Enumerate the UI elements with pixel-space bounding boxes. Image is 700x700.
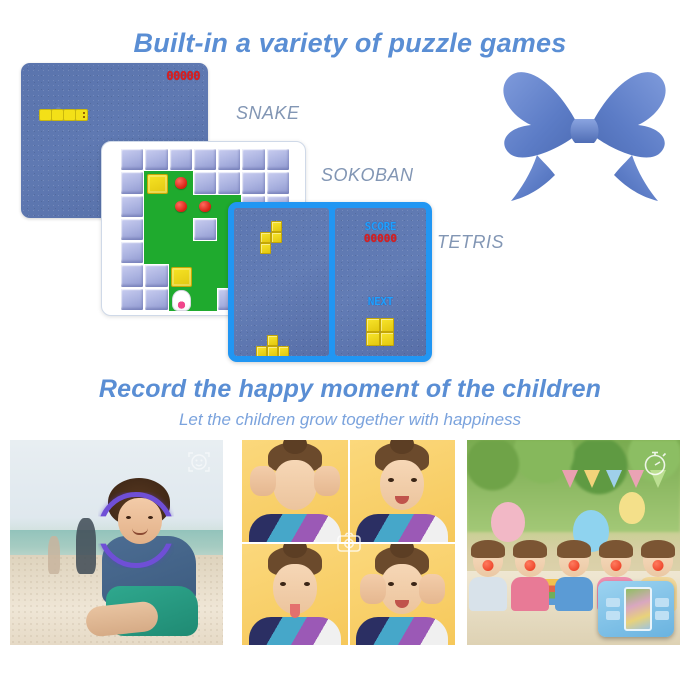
sokoban-wall bbox=[241, 171, 265, 194]
page-title-record: Record the happy moment of the children bbox=[0, 375, 700, 404]
sokoban-floor bbox=[144, 218, 168, 241]
sokoban-wall bbox=[266, 171, 290, 194]
sokoban-wall bbox=[120, 264, 144, 287]
sokoban-target bbox=[169, 171, 193, 194]
tetris-piece-s bbox=[260, 221, 282, 254]
sokoban-floor bbox=[169, 218, 193, 241]
party-child bbox=[515, 545, 549, 611]
girl-hand bbox=[314, 466, 340, 496]
stopwatch-icon bbox=[640, 448, 670, 478]
snake-sprite bbox=[39, 109, 87, 121]
tetris-score-value: 00000 bbox=[335, 232, 426, 245]
sokoban-crate bbox=[169, 264, 193, 287]
tetris-playfield bbox=[234, 208, 329, 356]
girl-face bbox=[273, 460, 317, 510]
camera-buttons bbox=[655, 598, 669, 620]
sokoban-floor bbox=[144, 195, 168, 218]
photo-face-recognition: Face Recognition bbox=[10, 440, 223, 645]
sokoban-wall bbox=[169, 148, 193, 171]
product-feature-page: Built-in a variety of puzzle games 00000 bbox=[0, 0, 700, 700]
sokoban-player bbox=[169, 288, 193, 311]
photo-burst: Burst Photo bbox=[242, 440, 455, 645]
tetris-next-label: NEXT bbox=[335, 295, 426, 308]
balloon bbox=[491, 502, 525, 542]
sokoban-wall bbox=[120, 195, 144, 218]
girl-hand bbox=[419, 574, 445, 604]
girl-eye bbox=[280, 582, 286, 586]
sokoban-wall bbox=[193, 171, 217, 194]
kids-camera-device bbox=[598, 581, 674, 637]
party-child bbox=[559, 545, 593, 611]
sokoban-wall bbox=[193, 148, 217, 171]
girl-hand bbox=[250, 466, 276, 496]
sokoban-floor bbox=[144, 241, 168, 264]
sokoban-wall bbox=[144, 288, 168, 311]
sokoban-wall bbox=[217, 148, 241, 171]
sokoban-wall bbox=[266, 148, 290, 171]
sokoban-target bbox=[193, 195, 217, 218]
sokoban-target bbox=[169, 195, 193, 218]
girl-eye bbox=[411, 582, 417, 586]
sokoban-wall bbox=[120, 241, 144, 264]
game-label-tetris: TETRIS bbox=[437, 232, 504, 253]
tetris-info-panel: SCORE 00000 NEXT bbox=[335, 208, 426, 356]
tetris-game-screen: SCORE 00000 NEXT bbox=[228, 202, 432, 362]
sokoban-wall bbox=[217, 171, 241, 194]
burst-frame bbox=[350, 440, 456, 542]
sokoban-wall bbox=[120, 288, 144, 311]
girl-body bbox=[249, 617, 341, 645]
ribbon-bow-icon bbox=[487, 55, 682, 205]
tetris-piece-t bbox=[256, 335, 289, 356]
camera-screen bbox=[624, 587, 652, 631]
sokoban-wall bbox=[144, 148, 168, 171]
sokoban-floor bbox=[193, 264, 217, 287]
tetris-next-piece-o bbox=[366, 318, 394, 346]
face-detect-icon bbox=[185, 448, 213, 476]
sokoban-wall bbox=[193, 218, 217, 241]
girl-tongue bbox=[290, 604, 300, 618]
sokoban-wall bbox=[120, 171, 144, 194]
page-subtitle: Let the children grow together with happ… bbox=[0, 410, 700, 430]
game-label-sokoban: SOKOBAN bbox=[321, 165, 414, 186]
sokoban-wall bbox=[144, 264, 168, 287]
camera-buttons bbox=[606, 598, 620, 620]
girl-eye bbox=[304, 582, 310, 586]
girl-body bbox=[356, 514, 448, 542]
girl-eye bbox=[388, 582, 394, 586]
sokoban-floor bbox=[169, 241, 193, 264]
girl-hand bbox=[360, 574, 386, 604]
sokoban-crate bbox=[144, 171, 168, 194]
party-child bbox=[473, 545, 507, 611]
burst-frame bbox=[350, 544, 456, 646]
sokoban-wall bbox=[241, 148, 265, 171]
sokoban-floor bbox=[193, 288, 217, 311]
background-person bbox=[48, 536, 60, 574]
girl-eye bbox=[411, 478, 417, 482]
camera-icon bbox=[336, 530, 362, 556]
sokoban-floor bbox=[193, 241, 217, 264]
snake-head bbox=[75, 109, 88, 121]
girl-eye bbox=[388, 478, 394, 482]
photo-time-lapse: Time Lapse Shooting bbox=[467, 440, 680, 645]
girl-body bbox=[249, 514, 341, 542]
sokoban-wall bbox=[120, 218, 144, 241]
burst-frame bbox=[242, 440, 348, 542]
balloon bbox=[619, 492, 645, 524]
game-label-snake: SNAKE bbox=[236, 103, 300, 124]
puzzle-games-showcase: 00000 bbox=[0, 55, 700, 365]
snake-score-value: 00000 bbox=[166, 69, 200, 83]
sokoban-wall bbox=[120, 148, 144, 171]
burst-frame bbox=[242, 544, 348, 646]
girl-body bbox=[356, 617, 448, 645]
